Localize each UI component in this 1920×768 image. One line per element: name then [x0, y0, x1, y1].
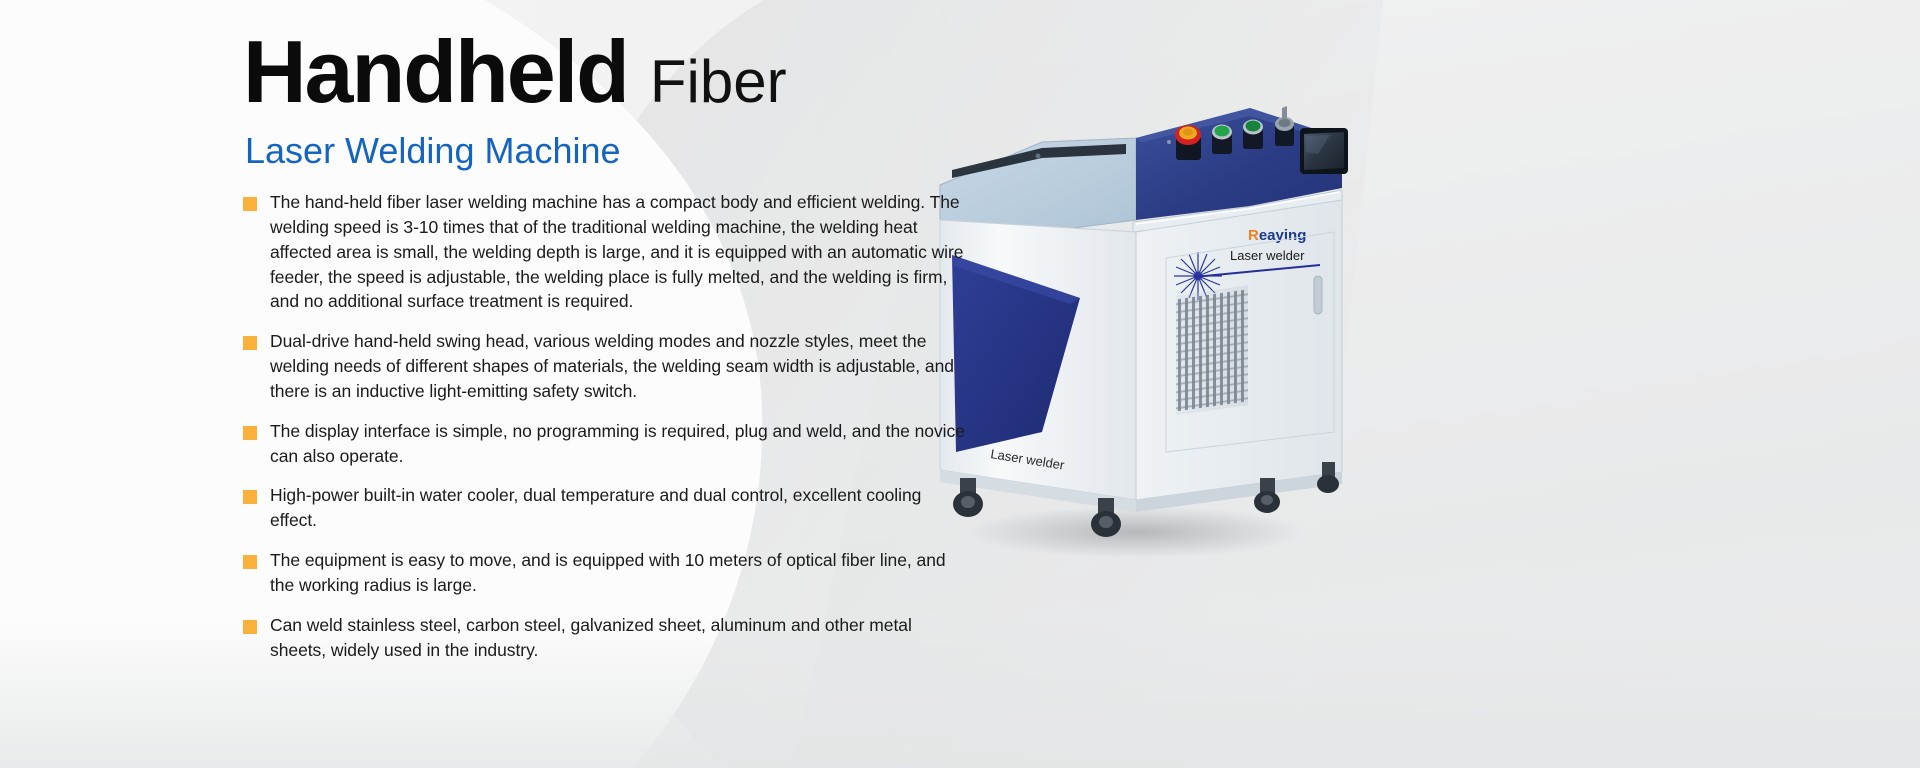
brand-logo-r: R: [1248, 227, 1259, 244]
bullet-square-icon: [243, 555, 257, 569]
brand-logo: Reaying: [1248, 227, 1306, 244]
bullet-square-icon: [243, 620, 257, 634]
title-secondary-word: Fiber: [650, 52, 787, 112]
feature-text: Can weld stainless steel, carbon steel, …: [270, 613, 968, 663]
key-switch[interactable]: [1275, 106, 1294, 146]
panel-indicator-light-icon: [1167, 140, 1171, 144]
list-item: High-power built-in water cooler, dual t…: [243, 483, 968, 533]
bullet-square-icon: [243, 336, 257, 350]
list-item: Dual-drive hand-held swing head, various…: [243, 329, 968, 404]
bullet-square-icon: [243, 426, 257, 440]
svg-text:Reaying: Reaying: [1248, 227, 1306, 244]
feature-text: Dual-drive hand-held swing head, various…: [270, 329, 968, 404]
feature-text: The equipment is easy to move, and is eq…: [270, 548, 968, 598]
page-title: Handheld Fiber: [243, 28, 787, 116]
green-button-2[interactable]: [1243, 120, 1263, 150]
list-item: The equipment is easy to move, and is eq…: [243, 548, 968, 598]
list-item: The display interface is simple, no prog…: [243, 419, 968, 469]
touchscreen-display[interactable]: [1300, 128, 1348, 174]
emergency-stop-button[interactable]: [1175, 125, 1201, 160]
bullet-square-icon: [243, 490, 257, 504]
banner-content: Handheld Fiber Laser Welding Machine The…: [0, 0, 1100, 768]
key-icon: [1282, 106, 1287, 120]
feature-text: The display interface is simple, no prog…: [270, 419, 968, 469]
green-button-1[interactable]: [1212, 125, 1232, 155]
door-handle[interactable]: [1314, 276, 1322, 314]
feature-text: High-power built-in water cooler, dual t…: [270, 483, 968, 533]
list-item: Can weld stainless steel, carbon steel, …: [243, 613, 968, 663]
ventilation-grille: [1176, 285, 1248, 415]
page-subtitle: Laser Welding Machine: [245, 131, 621, 171]
front-brand-label: Laser welder: [1230, 248, 1305, 263]
list-item: The hand-held fiber laser welding machin…: [243, 190, 968, 314]
title-main-word: Handheld: [243, 28, 628, 116]
brand-logo-name: eaying: [1259, 227, 1307, 244]
feature-text: The hand-held fiber laser welding machin…: [270, 190, 968, 314]
bullet-square-icon: [243, 197, 257, 211]
feature-list: The hand-held fiber laser welding machin…: [243, 190, 968, 678]
